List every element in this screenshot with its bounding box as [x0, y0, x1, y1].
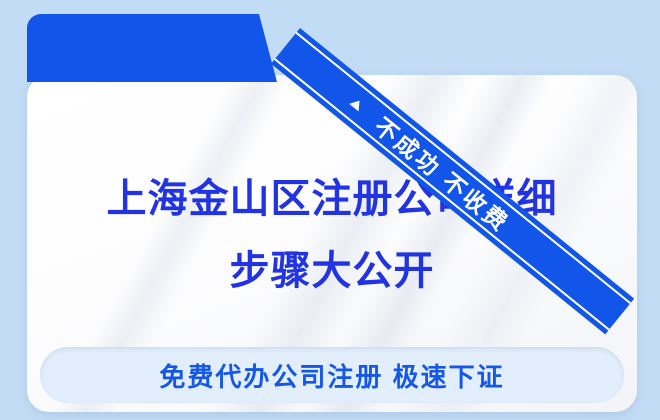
brand-tab [27, 14, 277, 82]
promo-poster: 上海壹隆 上海金山区注册公司详细 步骤大公开 免费代办公司注册 极速下证 不成功… [0, 0, 660, 420]
triangle-up-icon [350, 96, 365, 111]
page-title-line-1: 上海金山区注册公司详细 [27, 163, 637, 235]
cta-banner[interactable]: 免费代办公司注册 极速下证 [40, 347, 624, 403]
cta-banner-label: 免费代办公司注册 极速下证 [159, 357, 504, 394]
